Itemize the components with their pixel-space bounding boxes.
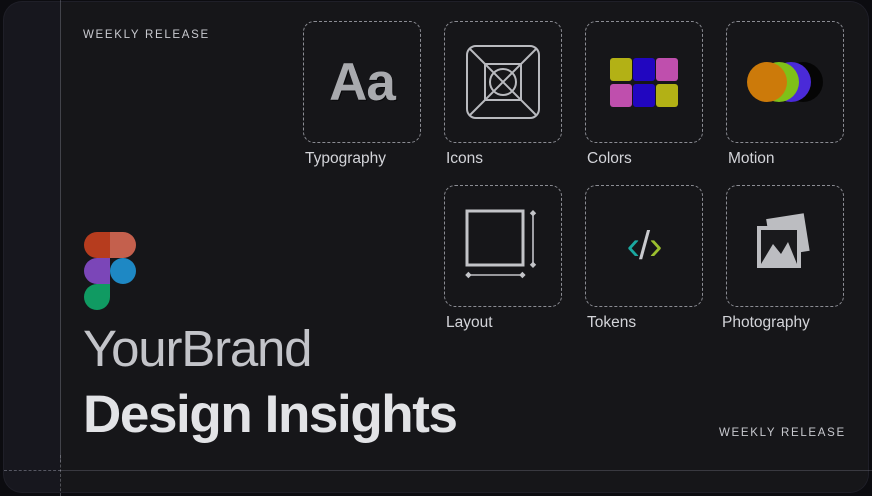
tile-label-colors: Colors [587, 146, 707, 171]
guide-line-horizontal-dashed [4, 470, 61, 471]
tile-label-photography: Photography [722, 310, 872, 335]
color-swatch [633, 84, 655, 107]
tile-tokens[interactable]: ‹/› [585, 185, 703, 307]
tile-icons[interactable] [444, 21, 562, 143]
color-swatch [610, 84, 632, 107]
layout-dimensions-icon [463, 207, 543, 285]
icon-grid-placeholder-icon [464, 43, 542, 121]
tile-photography[interactable] [726, 185, 844, 307]
figma-logo [84, 232, 136, 310]
color-swatch [656, 84, 678, 107]
tile-motion[interactable] [726, 21, 844, 143]
tile-layout[interactable] [444, 185, 562, 307]
eyebrow-top-label: WEEKLY RELEASE [83, 29, 210, 41]
guide-line-vertical [60, 0, 61, 462]
motion-circle [747, 62, 787, 102]
bracket-left-glyph: ‹ [627, 224, 639, 268]
color-swatch [633, 58, 655, 81]
bracket-right-glyph: › [649, 224, 661, 268]
tile-label-motion: Motion [728, 146, 848, 171]
tile-typography[interactable]: Aa [303, 21, 421, 143]
bracket-slash-glyph: / [639, 224, 649, 268]
eyebrow-bottom-label: WEEKLY RELEASE [719, 427, 846, 439]
tile-label-layout: Layout [446, 310, 566, 335]
code-brackets-icon: ‹/› [627, 226, 662, 266]
tile-colors[interactable] [585, 21, 703, 143]
card-canvas: WEEKLY RELEASE WEEKLY RELEASE Aa Typogra… [0, 0, 872, 496]
photo-stack-icon [748, 212, 822, 280]
guide-line-vertical-dashed [60, 455, 61, 496]
color-swatch [610, 58, 632, 81]
color-swatches-icon [610, 58, 678, 107]
tile-label-icons: Icons [446, 146, 566, 171]
tile-label-tokens: Tokens [587, 310, 707, 335]
guide-line-horizontal [60, 470, 872, 471]
aa-type-specimen-icon: Aa [329, 52, 395, 113]
brand-name: YourBrand [83, 318, 311, 380]
color-swatch [656, 58, 678, 81]
page-title: Design Insights [83, 383, 457, 447]
motion-circles-icon [747, 62, 823, 102]
tile-label-typography: Typography [305, 146, 425, 171]
